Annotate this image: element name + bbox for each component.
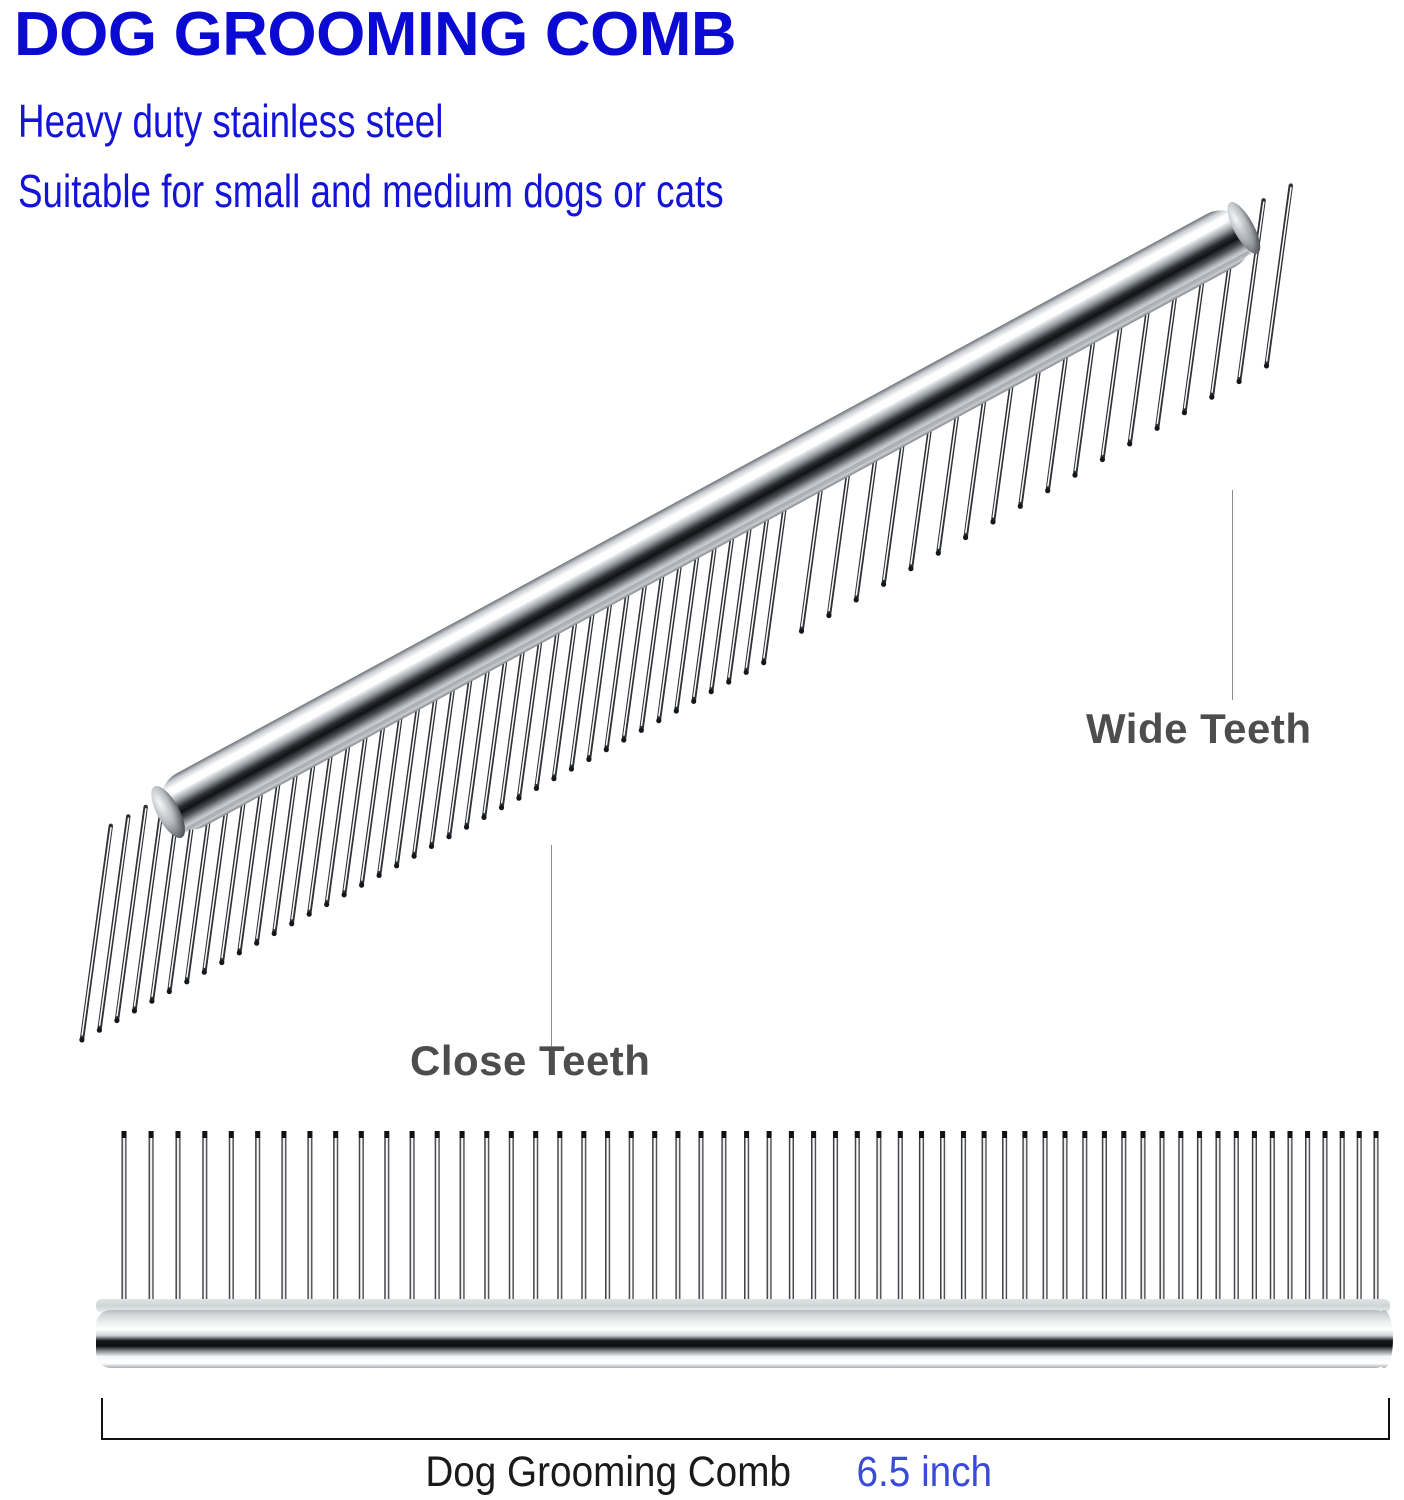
comb-tooth-tip xyxy=(656,718,661,723)
comb-tooth xyxy=(1102,1131,1107,1309)
comb-tooth-tip xyxy=(1102,1131,1107,1138)
comb-tooth xyxy=(1357,1131,1362,1309)
comb-tooth xyxy=(729,475,757,682)
comb-tooth-highlight xyxy=(729,477,757,677)
comb-tooth-highlight xyxy=(746,468,774,667)
comb-tooth-highlight xyxy=(764,459,792,658)
comb-tooth xyxy=(344,684,373,895)
comb-tooth-tip xyxy=(789,1131,794,1138)
comb-tooth-tip xyxy=(854,597,859,602)
comb-tooth-tip xyxy=(481,815,486,820)
comb-tooth xyxy=(274,722,303,934)
comb-tooth-tip xyxy=(1045,488,1050,493)
comb-tooth-highlight xyxy=(554,572,582,774)
comb-tooth-tip xyxy=(1305,1131,1310,1138)
comb-tooth-highlight xyxy=(659,515,687,715)
close-teeth-label: Close Teeth xyxy=(410,1037,650,1085)
comb-tooth xyxy=(659,513,687,720)
comb-tooth-highlight xyxy=(414,648,442,851)
comb-tooth-tip xyxy=(722,1131,727,1138)
comb-tooth xyxy=(919,1131,924,1309)
comb-tooth-tip xyxy=(435,1131,440,1138)
comb-tooth-tip xyxy=(184,979,189,984)
comb-tooth xyxy=(1130,260,1155,444)
comb-tooth-highlight xyxy=(802,439,828,626)
comb-tooth xyxy=(1075,289,1100,475)
comb-tooth-highlight xyxy=(694,496,722,696)
comb-tooth xyxy=(222,750,251,962)
comb-tooth xyxy=(502,599,530,808)
comb-tooth-tip xyxy=(1018,504,1023,509)
comb-tooth-tip xyxy=(604,747,609,752)
comb-tooth xyxy=(789,1131,794,1309)
comb-tooth xyxy=(309,703,338,914)
comb-tooth-tip xyxy=(97,1028,102,1033)
comb-tooth xyxy=(966,348,992,537)
comb-tooth-tip xyxy=(709,689,714,694)
comb-tooth xyxy=(460,1131,465,1309)
comb-tooth-tip xyxy=(499,805,504,810)
comb-tooth-tip xyxy=(1100,457,1105,462)
comb-tooth-tip xyxy=(1155,426,1160,431)
comb-tooth-tip xyxy=(855,1131,860,1138)
comb-tooth xyxy=(484,608,512,817)
wide-teeth-label: Wide Teeth xyxy=(1086,705,1312,753)
comb-tooth xyxy=(1157,245,1182,429)
comb-tooth xyxy=(1020,319,1045,507)
comb-tooth-highlight xyxy=(537,582,565,784)
comb-tooth-highlight xyxy=(642,525,670,726)
comb-tooth-tip xyxy=(1082,1131,1087,1138)
comb-tooth xyxy=(175,1131,180,1309)
comb-tooth-highlight xyxy=(362,676,391,880)
comb-tooth-tip xyxy=(324,902,329,907)
comb-tooth-tip xyxy=(744,1131,749,1138)
comb-tooth-tip xyxy=(826,613,831,618)
comb-tooth xyxy=(993,333,1018,522)
comb-tooth-tip xyxy=(1182,410,1187,415)
comb-tooth-highlight xyxy=(449,629,477,832)
comb-tooth-tip xyxy=(533,1131,538,1138)
comb-tooth xyxy=(1082,1131,1087,1309)
infographic-canvas: DOG GROOMING COMB Heavy duty stainless s… xyxy=(0,0,1404,1500)
comb-tooth xyxy=(333,1131,338,1309)
comb-tooth-tip xyxy=(1141,1131,1146,1138)
comb-tooth-tip xyxy=(1252,1131,1257,1138)
comb-tooth xyxy=(802,437,828,631)
comb-tooth-highlight xyxy=(966,350,992,532)
comb-tooth xyxy=(1002,1131,1007,1309)
comb-tooth xyxy=(675,1131,680,1309)
comb-tooth-highlight xyxy=(292,714,321,919)
comb-tooth-tip xyxy=(176,1131,181,1138)
comb-tooth xyxy=(121,1131,126,1309)
comb-tooth xyxy=(1305,1131,1310,1309)
comb-tooth-tip xyxy=(359,883,364,888)
comb-tooth-tip xyxy=(534,786,539,791)
comb-tooth-highlight xyxy=(240,743,269,948)
comb-tooth-tip xyxy=(761,660,766,665)
comb-tooth xyxy=(982,1131,987,1309)
comb-tooth xyxy=(557,1131,562,1309)
comb-tooth-highlight xyxy=(397,657,425,860)
comb-tooth xyxy=(1102,274,1127,459)
comb-tooth-tip xyxy=(605,1131,610,1138)
measurement-text: 6.5 inch xyxy=(856,1448,992,1497)
comb-tooth-tip xyxy=(1288,1131,1293,1138)
comb-tooth xyxy=(449,627,477,837)
comb-tooth-tip xyxy=(272,931,277,936)
comb-tooth xyxy=(435,1131,440,1309)
comb-tooth-tip xyxy=(1072,473,1077,478)
comb-tooth xyxy=(829,422,855,616)
comb-tooth-tip xyxy=(509,1131,514,1138)
comb-tooth xyxy=(652,1131,657,1309)
comb-tooth-tip xyxy=(586,757,591,762)
comb-tooth-highlight xyxy=(1103,276,1128,454)
comb-tooth-tip xyxy=(691,699,696,704)
comb-tooth-tip xyxy=(254,941,259,946)
comb-tooth xyxy=(744,1131,749,1309)
comb-tooth xyxy=(1322,1131,1327,1309)
comb-tooth xyxy=(606,542,634,750)
comb-tooth-highlight xyxy=(1157,247,1182,424)
comb-tooth-highlight xyxy=(711,487,739,687)
comb-tooth-tip xyxy=(744,670,749,675)
comb-tooth-tip xyxy=(833,1131,838,1138)
comb-tooth-highlight xyxy=(1267,188,1291,361)
comb-tooth-highlight xyxy=(1130,262,1155,439)
comb-tooth xyxy=(767,1131,772,1309)
comb-tooth-tip xyxy=(202,1131,207,1138)
bracket-baseline xyxy=(101,1438,1390,1440)
comb-tooth xyxy=(1121,1131,1126,1309)
comb-tooth-tip xyxy=(990,519,995,524)
comb-tooth-tip xyxy=(639,728,644,733)
comb-tooth-tip xyxy=(1063,1131,1068,1138)
comb-tooth-tip xyxy=(484,1131,489,1138)
comb-tooth xyxy=(1062,1131,1067,1309)
comb-tooth xyxy=(1270,1131,1275,1309)
comb-tooth xyxy=(327,693,356,904)
comb-tooth-tip xyxy=(460,1131,465,1138)
angled-view-teeth xyxy=(79,186,1291,1043)
comb-tooth xyxy=(811,1131,816,1309)
comb-tooth-tip xyxy=(936,551,941,556)
comb-tooth-highlight xyxy=(484,610,512,812)
comb-tooth xyxy=(855,1131,860,1309)
comb-tooth-highlight xyxy=(572,563,600,764)
comb-tooth-tip xyxy=(255,1131,260,1138)
comb-tooth-tip xyxy=(237,950,242,955)
comb-tooth xyxy=(940,1131,945,1309)
bracket-tick-right xyxy=(1388,1398,1390,1440)
comb-tooth-tip xyxy=(569,766,574,771)
comb-tooth-highlight xyxy=(502,601,530,803)
comb-tooth-tip xyxy=(149,1131,154,1138)
comb-tooth xyxy=(711,485,739,692)
comb-tooth xyxy=(204,760,233,973)
comb-tooth-tip xyxy=(122,1131,127,1138)
comb-tooth-tip xyxy=(1002,1131,1007,1138)
comb-tooth-highlight xyxy=(993,335,1018,517)
comb-tooth xyxy=(1043,1131,1048,1309)
comb-tooth-highlight xyxy=(100,818,129,1025)
comb-tooth-highlight xyxy=(589,553,617,754)
comb-tooth xyxy=(641,523,669,731)
bracket-tick-left xyxy=(101,1398,103,1440)
comb-tooth-tip xyxy=(551,776,556,781)
comb-tooth-tip xyxy=(308,1131,313,1138)
comb-tooth xyxy=(884,393,910,585)
comb-tooth-tip xyxy=(1043,1131,1048,1138)
comb-tooth-tip xyxy=(1357,1131,1362,1138)
comb-tooth-tip xyxy=(898,1131,903,1138)
comb-tooth-tip xyxy=(202,970,207,975)
comb-tooth xyxy=(581,1131,586,1309)
comb-tooth xyxy=(1022,1131,1027,1309)
comb-tooth xyxy=(281,1131,286,1309)
comb-tooth xyxy=(362,674,391,885)
comb-tooth-tip xyxy=(726,679,731,684)
comb-tooth-highlight xyxy=(344,686,373,890)
comb-tooth-tip xyxy=(333,1131,338,1138)
comb-tooth xyxy=(509,1131,514,1309)
comb-tooth xyxy=(1159,1131,1164,1309)
comb-tooth-tip xyxy=(1160,1131,1165,1138)
comb-tooth xyxy=(698,1131,703,1309)
comb-tooth-tip xyxy=(1323,1131,1328,1138)
comb-tooth-tip xyxy=(1264,363,1269,368)
comb-tooth-highlight xyxy=(82,828,111,1035)
subtitle-material: Heavy duty stainless steel xyxy=(18,96,443,146)
comb-tooth-tip xyxy=(940,1131,945,1138)
comb-tooth-tip xyxy=(908,566,913,571)
comb-tooth xyxy=(1287,1131,1292,1309)
comb-tooth xyxy=(484,1131,489,1309)
comb-tooth-tip xyxy=(811,1131,816,1138)
comb-tooth xyxy=(721,1131,726,1309)
comb-tooth xyxy=(432,636,460,846)
comb-tooth xyxy=(519,589,547,798)
comb-tooth xyxy=(202,1131,207,1309)
comb-tooth-highlight xyxy=(274,724,303,929)
comb-tooth xyxy=(764,457,792,663)
comb-tooth-tip xyxy=(877,1131,882,1138)
comb-tooth xyxy=(1340,1131,1345,1309)
comb-tooth-highlight xyxy=(1048,306,1073,486)
comb-tooth-tip xyxy=(1234,1131,1239,1138)
comb-tooth-tip xyxy=(229,1131,234,1138)
comb-tooth xyxy=(1140,1131,1145,1309)
comb-tooth-tip xyxy=(652,1131,657,1138)
comb-tooth-tip xyxy=(114,1018,119,1023)
comb-tooth xyxy=(911,378,937,569)
comb-tooth xyxy=(1373,1131,1378,1309)
dimension-bracket xyxy=(101,1398,1390,1440)
comb-tooth xyxy=(255,1131,260,1309)
comb-tooth-tip xyxy=(676,1131,681,1138)
comb-tooth-highlight xyxy=(939,365,965,548)
comb-tooth xyxy=(589,551,617,759)
comb-tooth xyxy=(533,1131,538,1309)
comb-tooth-tip xyxy=(282,1131,287,1138)
comb-tooth xyxy=(554,570,582,779)
comb-tooth xyxy=(1197,1131,1202,1309)
comb-tooth-tip xyxy=(149,999,154,1004)
comb-tooth xyxy=(257,731,286,943)
comb-tooth-highlight xyxy=(152,790,181,996)
comb-tooth xyxy=(397,655,425,865)
comb-tooth xyxy=(746,466,774,672)
comb-tooth-tip xyxy=(1374,1131,1379,1138)
comb-tooth-highlight xyxy=(309,705,338,909)
comb-tooth xyxy=(187,769,216,982)
comb-tooth-tip xyxy=(167,989,172,994)
comb-tooth xyxy=(629,1131,634,1309)
comb-tooth-tip xyxy=(629,1131,634,1138)
comb-tooth-highlight xyxy=(170,781,199,987)
comb-tooth xyxy=(99,816,128,1030)
comb-tooth xyxy=(307,1131,312,1309)
comb-tooth-highlight xyxy=(1239,202,1264,376)
comb-tooth xyxy=(571,561,599,769)
comb-tooth xyxy=(229,1131,234,1309)
comb-tooth-tip xyxy=(1340,1131,1345,1138)
comb-tooth-tip xyxy=(919,1131,924,1138)
comb-tooth-tip xyxy=(1127,441,1132,446)
comb-tooth-tip xyxy=(377,873,382,878)
comb-tooth xyxy=(414,646,442,856)
subtitle-suitability: Suitable for small and medium dogs or ca… xyxy=(18,166,724,216)
comb-tooth-tip xyxy=(1237,379,1242,384)
comb-tooth-highlight xyxy=(911,380,937,564)
comb-tooth-highlight xyxy=(432,638,460,841)
comb-tooth-tip xyxy=(674,708,679,713)
comb-tooth xyxy=(961,1131,966,1309)
comb-tooth-tip xyxy=(394,863,399,868)
comb-tooth xyxy=(605,1131,610,1309)
comb-tooth-tip xyxy=(132,1008,137,1013)
comb-tooth xyxy=(149,1131,154,1309)
comb-tooth-tip xyxy=(699,1131,704,1138)
wide-teeth-leader-line xyxy=(1232,490,1233,700)
comb-tooth xyxy=(359,1131,364,1309)
comb-tooth xyxy=(694,494,722,701)
comb-tooth-tip xyxy=(359,1131,364,1138)
comb-tooth-tip xyxy=(982,1131,987,1138)
comb-tooth-highlight xyxy=(1185,232,1210,408)
comb-tooth xyxy=(379,665,407,876)
comb-tooth-tip xyxy=(219,960,224,965)
comb-tooth-tip xyxy=(1178,1131,1183,1138)
comb-tooth-highlight xyxy=(379,667,407,871)
comb-tooth-highlight xyxy=(187,771,216,977)
comb-tooth-tip xyxy=(1209,395,1214,400)
comb-tooth xyxy=(384,1131,389,1309)
comb-tooth-tip xyxy=(1270,1131,1275,1138)
comb-tooth-tip xyxy=(79,1037,84,1042)
comb-tooth-highlight xyxy=(519,591,547,793)
product-name-text: Dog Grooming Comb xyxy=(425,1448,791,1497)
comb-tooth xyxy=(1178,1131,1183,1309)
comb-tooth-highlight xyxy=(327,695,356,899)
comb-tooth-highlight xyxy=(1021,321,1046,502)
close-teeth-leader-line xyxy=(551,845,552,1050)
comb-tooth-tip xyxy=(961,1131,966,1138)
comb-tooth-tip xyxy=(342,892,347,897)
comb-tooth-highlight xyxy=(829,424,855,611)
dimension-caption: Dog Grooming Comb 6.5 inch xyxy=(0,1448,1404,1497)
comb-tooth xyxy=(1212,215,1237,397)
comb-tooth xyxy=(152,788,181,1001)
comb-tooth-highlight xyxy=(677,506,705,706)
comb-tooth xyxy=(169,779,198,992)
comb-tooth xyxy=(134,797,163,1011)
comb-tooth-tip xyxy=(289,921,294,926)
comb-tooth-highlight xyxy=(467,620,495,823)
comb-tooth-highlight xyxy=(257,733,286,938)
comb-tooth-highlight xyxy=(884,395,910,580)
comb-tooth-highlight xyxy=(222,752,251,957)
page-title: DOG GROOMING COMB xyxy=(14,2,736,68)
comb-tooth-highlight xyxy=(117,809,146,1016)
comb-tooth-tip xyxy=(412,854,417,859)
comb-tooth-highlight xyxy=(856,409,882,595)
comb-tooth-tip xyxy=(1121,1131,1126,1138)
comb-tooth-tip xyxy=(1216,1131,1221,1138)
comb-tooth-tip xyxy=(446,834,451,839)
comb-tooth xyxy=(938,363,964,553)
comb-tooth-tip xyxy=(881,582,886,587)
comb-tooth-tip xyxy=(384,1131,389,1138)
comb-tooth xyxy=(1252,1131,1257,1309)
comb-tooth-highlight xyxy=(1075,291,1100,470)
comb-tooth-tip xyxy=(1197,1131,1202,1138)
comb-tooth-tip xyxy=(464,825,469,830)
comb-tooth-highlight xyxy=(607,544,635,745)
comb-tooth xyxy=(1048,304,1073,491)
comb-tooth xyxy=(1184,230,1209,413)
comb-tooth xyxy=(536,580,564,789)
comb-tooth xyxy=(410,1131,415,1309)
comb-tooth xyxy=(1267,186,1291,366)
comb-tooth xyxy=(1239,200,1264,381)
comb-tooth xyxy=(292,712,321,924)
comb-tooth-tip xyxy=(1023,1131,1028,1138)
comb-tooth xyxy=(467,618,495,828)
comb-tooth-highlight xyxy=(205,762,234,968)
comb-tooth xyxy=(833,1131,838,1309)
front-view-teeth xyxy=(121,1131,1378,1309)
comb-tooth-highlight xyxy=(624,534,652,735)
comb-tooth xyxy=(624,532,652,740)
comb-tooth xyxy=(82,826,111,1040)
comb-tooth-highlight xyxy=(1212,217,1237,392)
comb-tooth xyxy=(676,504,704,711)
comb-tooth-tip xyxy=(516,796,521,801)
comb-tooth xyxy=(1234,1131,1239,1309)
comb-tooth xyxy=(898,1131,903,1309)
comb-tooth-tip xyxy=(963,535,968,540)
comb-tooth-tip xyxy=(621,737,626,742)
comb-tooth-highlight xyxy=(135,799,164,1006)
comb-tooth-tip xyxy=(799,629,804,634)
comb-tooth-tip xyxy=(410,1131,415,1138)
comb-tooth-tip xyxy=(767,1131,772,1138)
comb-tooth xyxy=(239,741,268,953)
comb-tooth xyxy=(1215,1131,1220,1309)
